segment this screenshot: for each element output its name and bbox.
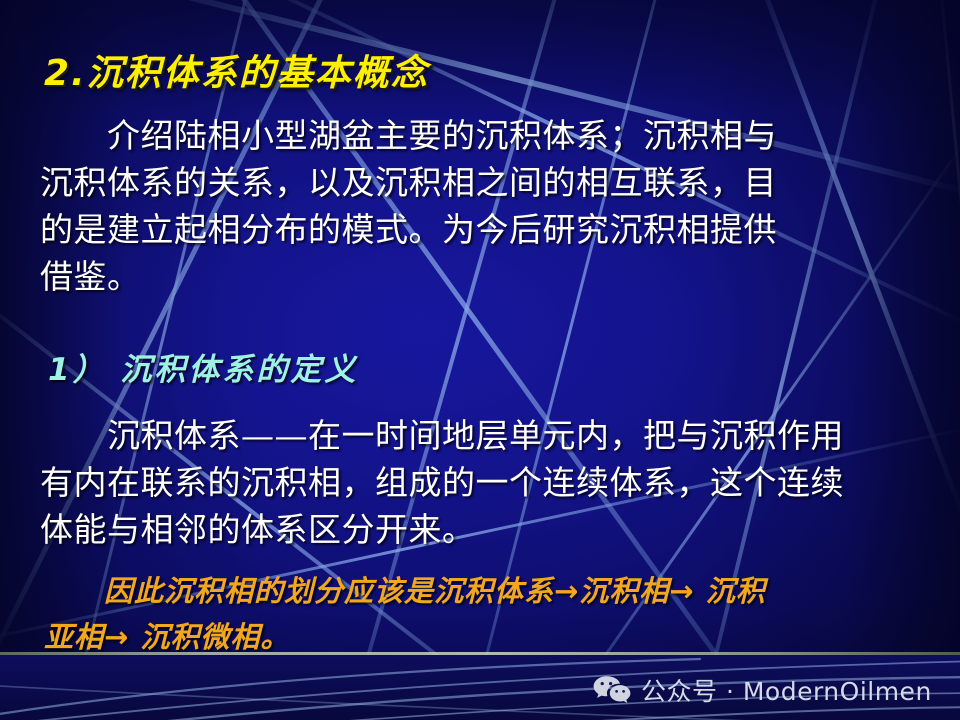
paragraph-one-line: 介绍陆相小型湖盆主要的沉积体系；沉积相与 [40,112,920,159]
page-title: 2.沉积体系的基本概念 [44,44,429,96]
footer-watermark: 公众号 · ModernOilmen [592,672,932,708]
slide-content: 2.沉积体系的基本概念 介绍陆相小型湖盆主要的沉积体系；沉积相与 沉积体系的关系… [0,0,960,655]
accent-paragraph: 因此沉积相的划分应该是沉积体系→沉积相→ 沉积 亚相→ 沉积微相。 [44,568,934,660]
paragraph-two-line: 体能与相邻的体系区分开来。 [40,506,920,553]
paragraph-one-line: 的是建立起相分布的模式。为今后研究沉积相提供 [40,206,920,253]
paragraph-two: 沉积体系——在一时间地层单元内，把与沉积作用 有内在联系的沉积相，组成的一个连续… [40,412,920,553]
paragraph-two-line: 有内在联系的沉积相，组成的一个连续体系，这个连续 [40,459,920,506]
accent-paragraph-line: 因此沉积相的划分应该是沉积体系→沉积相→ 沉积 [44,568,934,614]
paragraph-one-line: 沉积体系的关系，以及沉积相之间的相互联系，目 [40,159,920,206]
wechat-icon [592,675,632,705]
presentation-slide: 2.沉积体系的基本概念 介绍陆相小型湖盆主要的沉积体系；沉积相与 沉积体系的关系… [0,0,960,720]
paragraph-one-line: 借鉴。 [40,253,920,300]
footer-watermark-text: 公众号 · ModernOilmen [641,672,932,708]
section-subheading: 1） 沉积体系的定义 [48,344,358,389]
paragraph-one: 介绍陆相小型湖盆主要的沉积体系；沉积相与 沉积体系的关系，以及沉积相之间的相互联… [40,112,920,300]
paragraph-two-line: 沉积体系——在一时间地层单元内，把与沉积作用 [40,412,920,459]
